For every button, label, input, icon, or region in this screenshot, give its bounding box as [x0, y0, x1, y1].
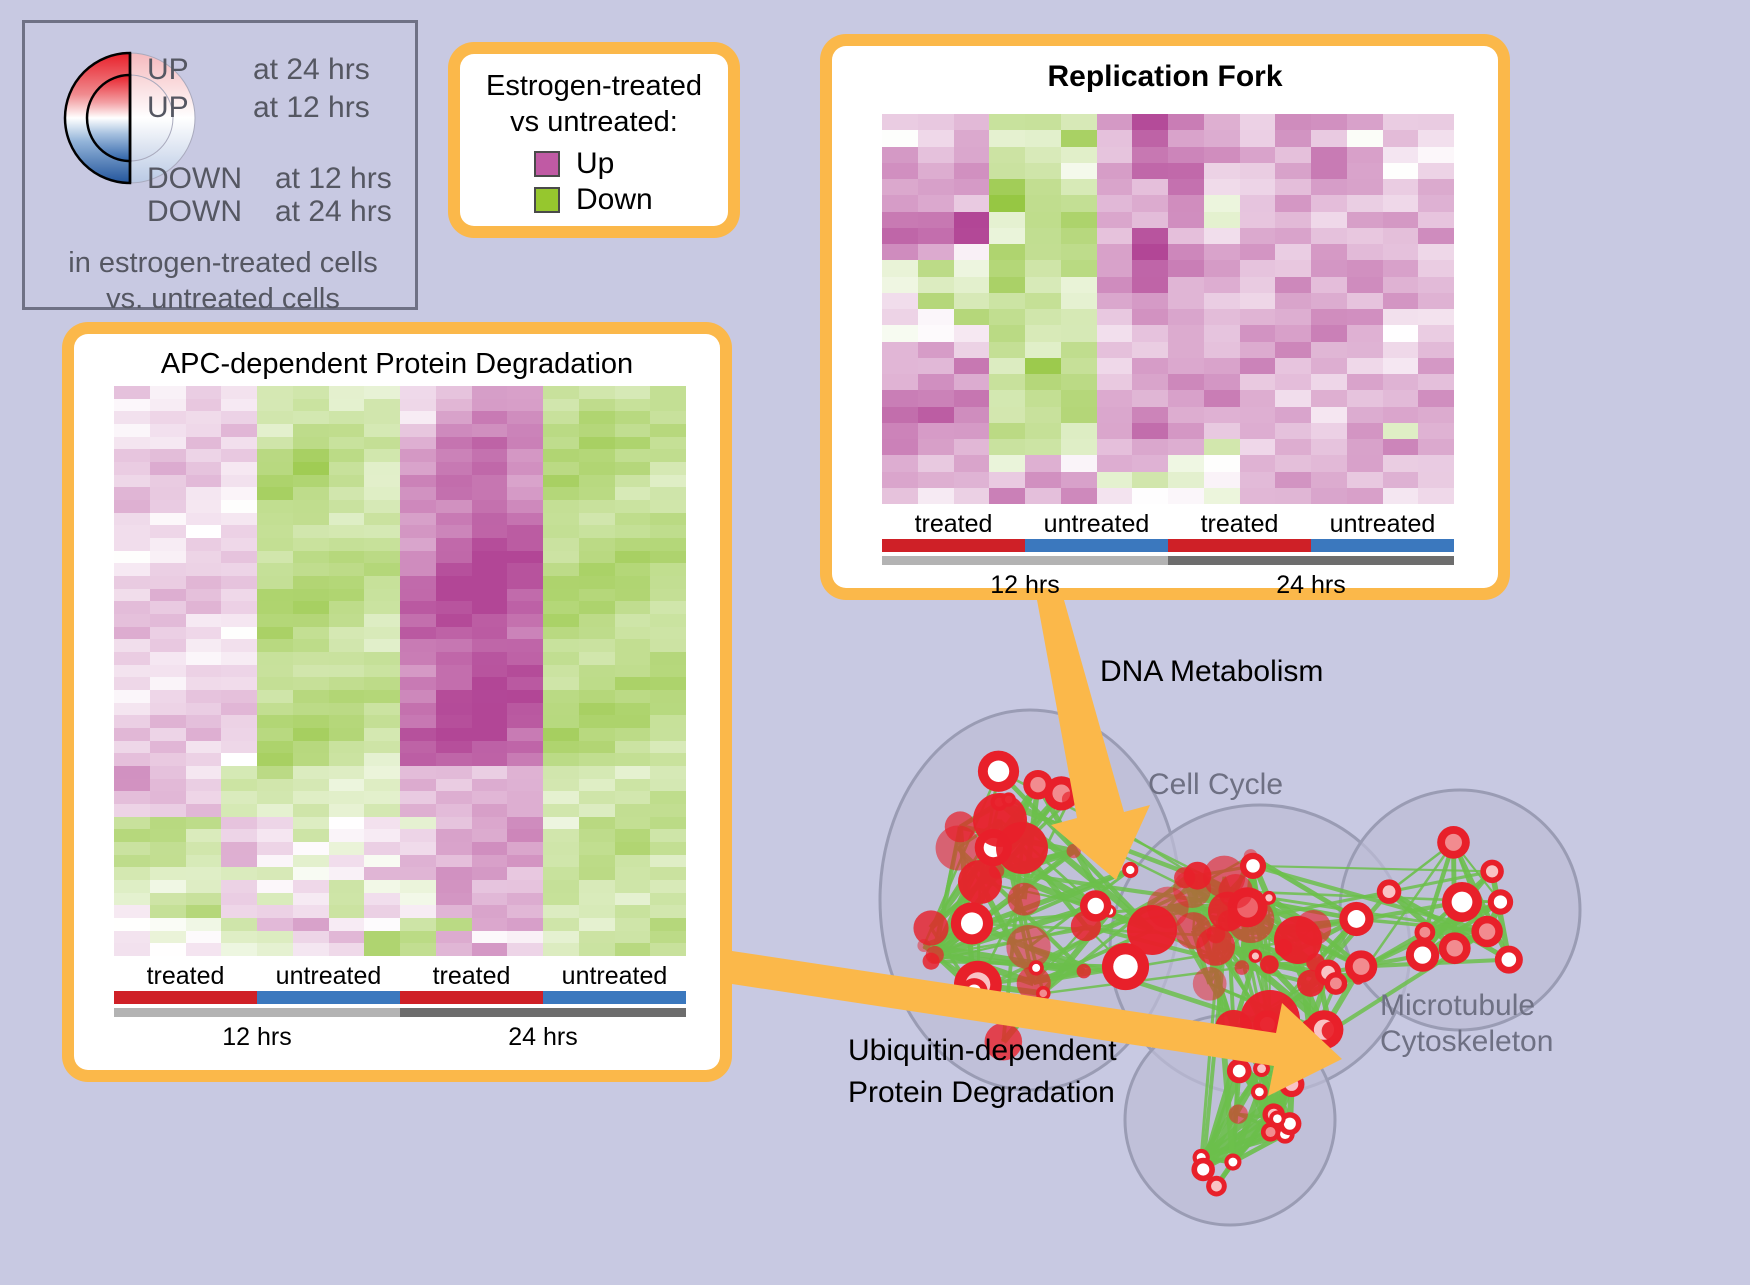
arrow-replication-fork [1037, 600, 1150, 880]
callout-arrows [0, 0, 1750, 1279]
arrow-apc-degradation [732, 951, 1342, 1096]
figure-canvas: UP at 24 hrs UP at 12 hrs DOWN at 12 hrs… [0, 0, 1750, 1279]
